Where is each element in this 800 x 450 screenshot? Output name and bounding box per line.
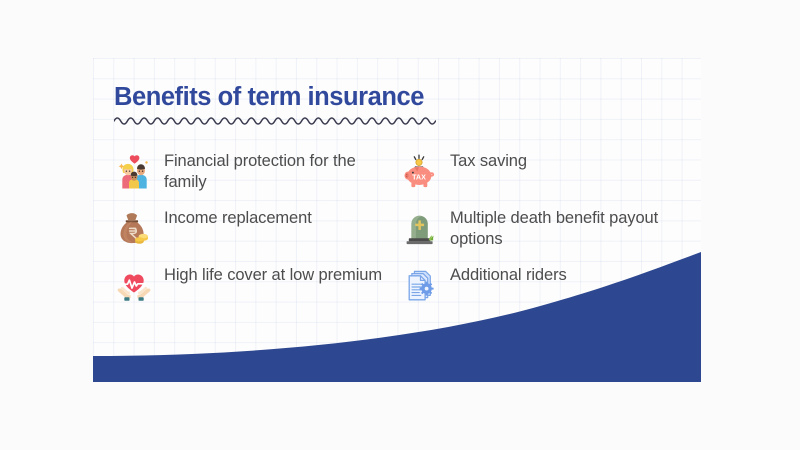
benefit-label: Tax saving: [450, 150, 527, 172]
slide-root: Benefits of term insurance: [0, 0, 800, 450]
benefits-grid: Financial protection for the family: [115, 150, 687, 321]
benefit-label: Multiple death benefit payout options: [450, 207, 675, 250]
documents-gear-icon: [401, 266, 439, 304]
slide-canvas: Benefits of term insurance: [93, 58, 701, 382]
title-block: Benefits of term insurance: [114, 84, 534, 125]
benefit-item-income-replacement: Income replacement: [115, 207, 401, 264]
benefit-item-tax-saving: TAX Tax saving: [401, 150, 687, 207]
page-title: Benefits of term insurance: [114, 84, 534, 111]
heart-in-hands-icon: [115, 266, 153, 304]
svg-text:TAX: TAX: [412, 172, 426, 181]
money-bag-rupee-icon: [115, 209, 153, 247]
piggy-bank-tax-icon: TAX: [401, 152, 439, 190]
title-squiggle-underline-icon: [114, 114, 436, 125]
benefit-item-financial-protection: Financial protection for the family: [115, 150, 401, 207]
benefit-label: Financial protection for the family: [164, 150, 389, 193]
benefit-item-death-benefit-payout: Multiple death benefit payout options: [401, 207, 687, 264]
benefit-label: High life cover at low premium: [164, 264, 382, 286]
benefit-item-high-life-cover: High life cover at low premium: [115, 264, 401, 321]
family-heart-icon: [115, 152, 153, 190]
benefit-label: Income replacement: [164, 207, 312, 229]
benefit-item-additional-riders: Additional riders: [401, 264, 687, 321]
tombstone-icon: [401, 209, 439, 247]
benefit-label: Additional riders: [450, 264, 567, 286]
